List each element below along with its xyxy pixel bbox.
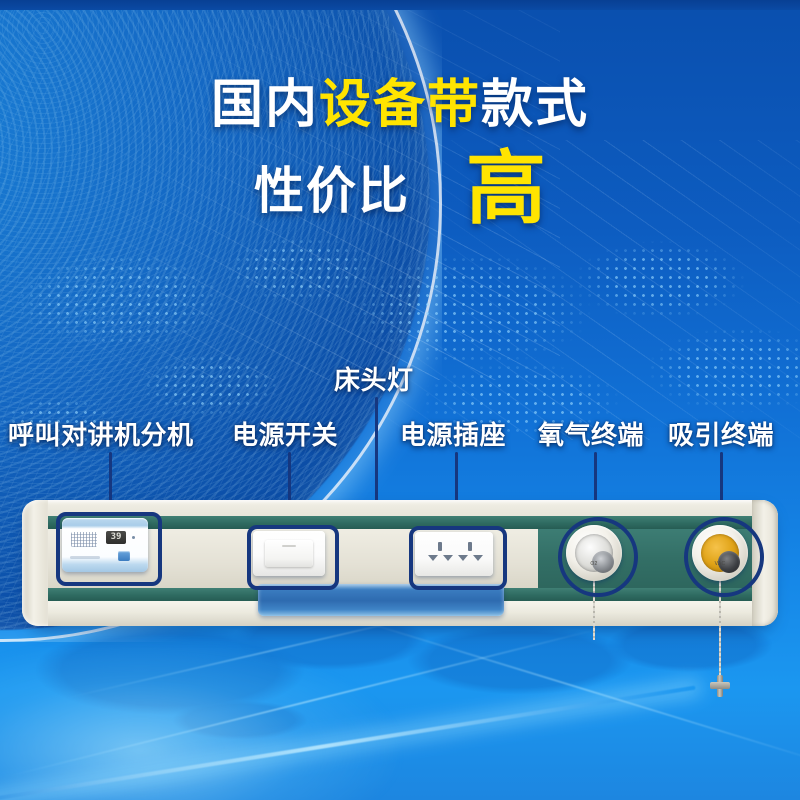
poster-canvas: 国内设备带款式 性价比 高 呼叫对讲机分机 电源开关 床头灯 电源插座 氧气终端… [0, 0, 800, 800]
headline-part-1: 国内 [211, 76, 319, 134]
callout-power-switch: 电源开关 [232, 415, 338, 452]
callout-bed-lamp: 床头灯 [334, 360, 414, 397]
headline-value-accent: 高 [466, 151, 546, 227]
socket-pin-angled-right [443, 555, 453, 561]
oxygen-hose-cord [593, 578, 595, 640]
socket-pin-angled-left [458, 555, 468, 561]
nurse-call-intercom[interactable]: 39 [62, 518, 148, 572]
intercom-display: 39 [106, 531, 126, 544]
headline-line-1: 国内设备带款式 [0, 78, 800, 133]
socket-outlet-left[interactable] [425, 542, 455, 566]
suction-terminal-mark: VAC [715, 561, 726, 567]
speaker-grille-icon [71, 532, 97, 547]
socket-pin-vertical [438, 542, 442, 551]
cord-weight-horizontal [710, 682, 730, 689]
headline-block: 国内设备带款式 性价比 高 [0, 78, 800, 225]
status-led-icon [132, 536, 135, 539]
unit-end-cap-right [752, 500, 778, 626]
power-socket[interactable] [415, 532, 493, 576]
suction-pull-cord[interactable] [719, 578, 721, 678]
unit-end-cap-left [22, 500, 48, 626]
pull-cord-weight[interactable] [710, 675, 730, 697]
suction-terminal-ring: VAC [701, 534, 739, 572]
unit-stripe-top [48, 516, 752, 529]
headline-part-2-accent: 设备带 [319, 76, 481, 134]
headline-value-text: 性价比 [254, 151, 410, 223]
intercom-slot [70, 556, 100, 559]
power-switch[interactable] [253, 531, 325, 576]
callout-suction-terminal: 吸引终端 [668, 415, 774, 452]
bed-lamp-diffuser [258, 584, 504, 616]
oxygen-terminal-ring: O2 [575, 534, 613, 572]
socket-pin-angled-right [473, 555, 483, 561]
callout-intercom: 呼叫对讲机分机 [8, 415, 194, 452]
rocker-switch[interactable] [265, 540, 313, 567]
top-edge-strip [0, 0, 800, 10]
oxygen-terminal[interactable]: O2 [566, 525, 622, 581]
socket-pin-vertical [468, 542, 472, 551]
callout-power-socket: 电源插座 [400, 415, 506, 452]
callout-oxygen-terminal: 氧气终端 [538, 415, 644, 452]
oxygen-terminal-mark: O2 [590, 561, 597, 567]
socket-outlet-right[interactable] [455, 542, 485, 566]
intercom-call-button[interactable] [118, 551, 130, 561]
socket-pin-angled-left [428, 555, 438, 561]
rocker-indicator-line [282, 545, 296, 547]
suction-terminal[interactable]: VAC [692, 525, 748, 581]
headline-line-2: 性价比 高 [0, 149, 800, 225]
bottom-left-glow [0, 640, 400, 800]
headline-part-3: 款式 [481, 76, 589, 134]
